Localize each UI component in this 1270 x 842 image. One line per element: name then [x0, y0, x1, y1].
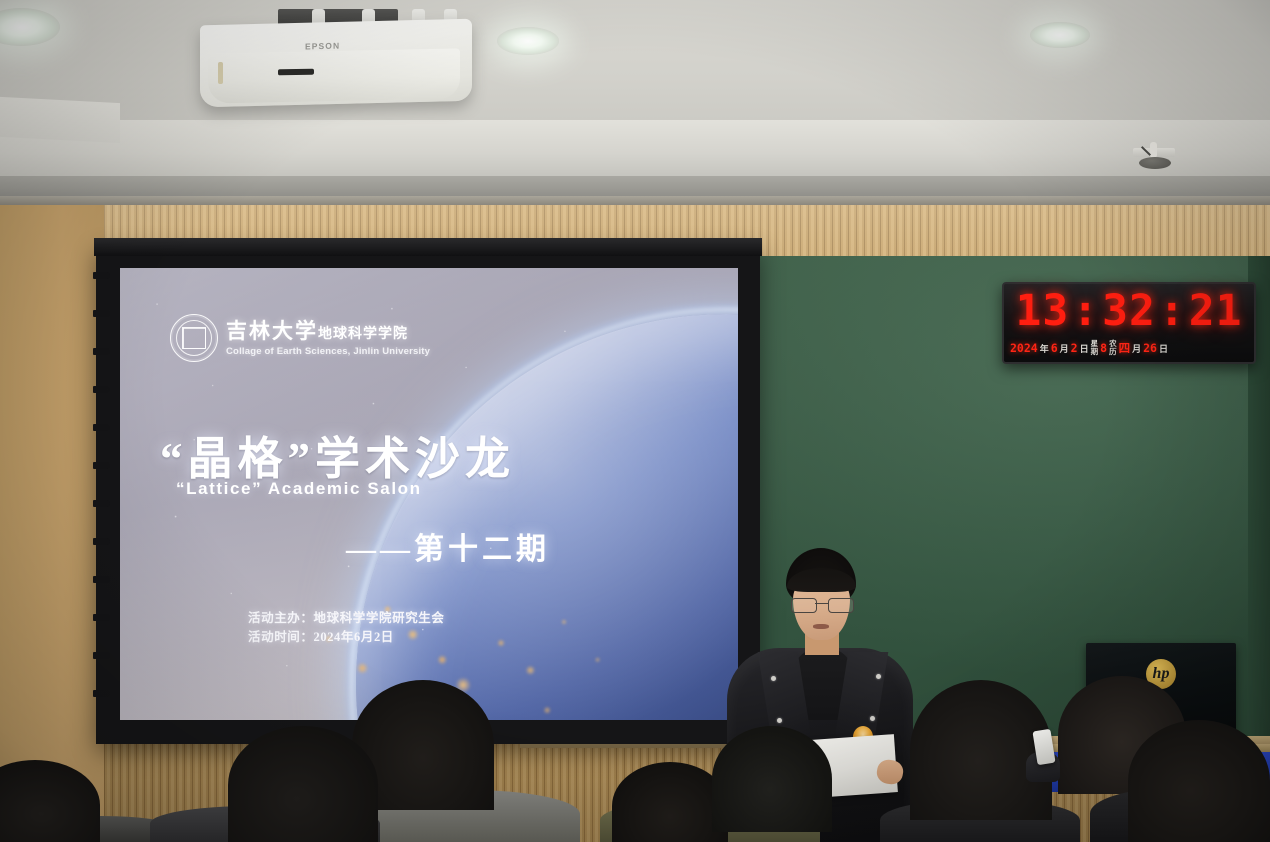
- glasses-bridge: [815, 603, 828, 604]
- wall-left-panel: [0, 205, 104, 842]
- camera-stem: [1150, 142, 1157, 158]
- projector-lens: [278, 69, 314, 76]
- audience-head: [712, 726, 832, 832]
- slide-meta-info: 活动主办：地球科学学院研究生会 活动时间：2024年6月2日: [248, 609, 445, 647]
- wall-top-trim: [0, 196, 1270, 205]
- soffit-shadow: [0, 176, 1270, 198]
- projector-front-face: [208, 48, 460, 103]
- slide-university-name-en: Collage of Earth Sciences, Jinlin Univer…: [226, 346, 430, 357]
- presenter-jacket-button: [777, 718, 782, 723]
- clock-month: 6: [1051, 341, 1058, 355]
- clock-lunar-month-label: 月: [1132, 342, 1141, 355]
- glasses-lens-left: [791, 598, 817, 613]
- clock-time-display: 13 : 32 : 21: [1004, 286, 1254, 336]
- clock-separator: :: [1159, 286, 1186, 336]
- slide-meta-host: 活动主办：地球科学学院研究生会: [248, 609, 445, 628]
- audience-head: [228, 726, 378, 842]
- presenter-jacket-button: [771, 676, 776, 681]
- audience-head: [910, 680, 1052, 820]
- clock-lunar-day: 26: [1143, 341, 1157, 355]
- clock-lunar-day-label: 日: [1159, 342, 1168, 355]
- projector-vent: [218, 62, 223, 84]
- presenter-mouth: [813, 624, 829, 629]
- clock-weekday-label: 星期: [1091, 340, 1099, 356]
- ceiling-edge-left: [0, 97, 120, 143]
- clock-minutes: 32: [1102, 286, 1156, 336]
- slide-surface: 吉林大学地球科学学院 Collage of Earth Sciences, Ji…: [120, 268, 738, 720]
- slide-meta-time: 活动时间：2024年6月2日: [248, 628, 445, 647]
- audience-head: [612, 762, 728, 842]
- lecture-hall-photo: EPSON hp 13 : 32 : 21: [0, 0, 1270, 842]
- clock-weekday: 8: [1100, 341, 1107, 355]
- slide-university-name-cn: 吉林大学地球科学学院: [226, 315, 408, 345]
- screen-roller-housing: [94, 238, 762, 256]
- ceiling-downlight: [497, 27, 559, 55]
- clock-day-label: 日: [1080, 342, 1089, 355]
- clock-hours: 13: [1015, 286, 1069, 336]
- clock-year: 2024: [1010, 341, 1038, 355]
- slide-title-cn: “晶格”学术沙龙: [160, 422, 515, 487]
- slide-episode-number: ——第十二期: [346, 524, 550, 568]
- clock-separator: :: [1072, 286, 1099, 336]
- screen-tension-hooks: [93, 258, 109, 738]
- led-digital-clock: 13 : 32 : 21 2024 年 6 月 2 日 星期 8 农历 四 月 …: [1002, 282, 1256, 364]
- glasses-lens-right: [828, 598, 854, 613]
- ceiling-downlight: [1030, 22, 1090, 48]
- clock-seconds: 21: [1189, 286, 1243, 336]
- clock-day: 2: [1071, 341, 1078, 355]
- presenter-jacket-button: [876, 674, 881, 679]
- clock-month-label: 月: [1060, 342, 1069, 355]
- slide-title-en: “Lattice” Academic Salon: [176, 479, 422, 499]
- projection-screen: 吉林大学地球科学学院 Collage of Earth Sciences, Ji…: [96, 244, 760, 744]
- clock-lunar-label: 农历: [1109, 340, 1117, 356]
- ceiling-projector: EPSON: [200, 9, 472, 109]
- university-seal-logo: [170, 314, 216, 360]
- presenter-jacket-button: [870, 716, 875, 721]
- clock-lunar-month: 四: [1119, 340, 1131, 356]
- projector-brand-label: EPSON: [305, 41, 340, 52]
- clock-date-display: 2024 年 6 月 2 日 星期 8 农历 四 月 26 日: [1010, 338, 1248, 358]
- eyeglasses-icon: [791, 598, 853, 612]
- camera-dome: [1139, 157, 1171, 169]
- ceiling-soffit: [0, 120, 1270, 180]
- seal-emblem: [182, 327, 206, 349]
- audience-head: [1128, 720, 1270, 842]
- clock-year-label: 年: [1040, 342, 1049, 355]
- ceiling-camera: [1133, 148, 1175, 178]
